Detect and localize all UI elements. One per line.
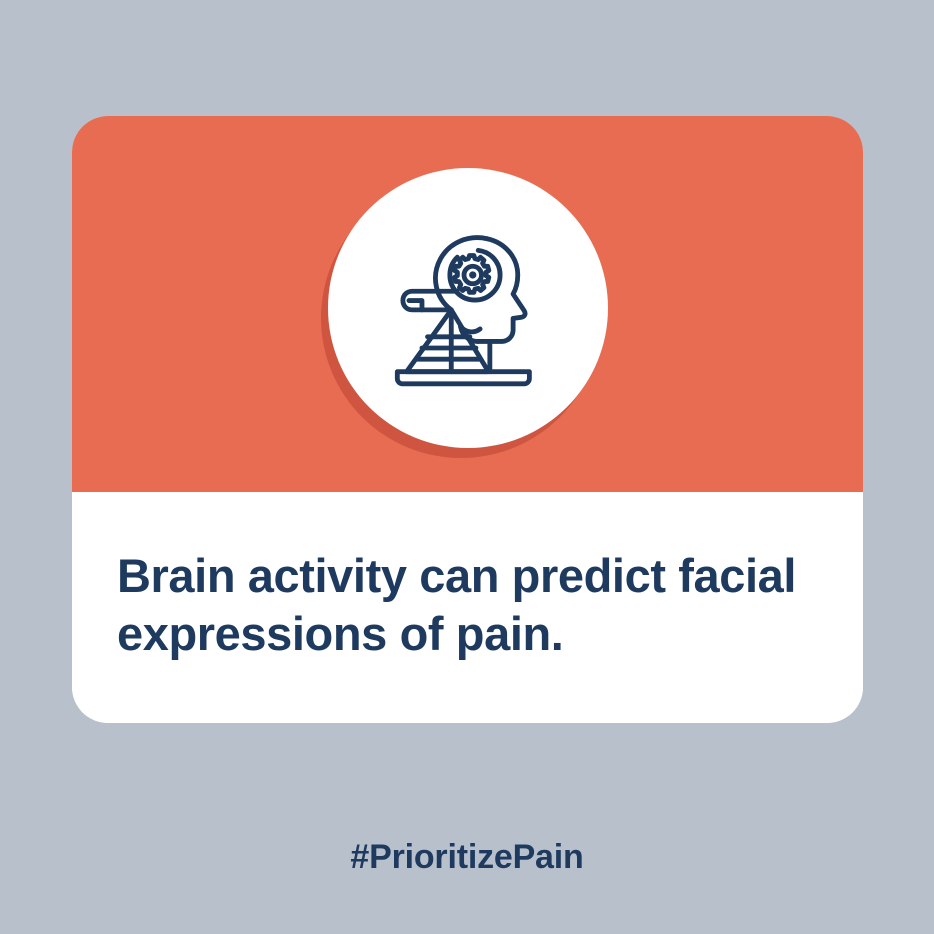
headline-line-2: expressions of pain. (117, 605, 827, 663)
card-body-panel: Brain activity can predict facial expres… (72, 492, 863, 723)
headline-line-1: Brain activity can predict facial (117, 547, 827, 605)
medallion-container (72, 116, 863, 492)
card-accent-panel (72, 116, 863, 492)
head-profile-gear-laptop-icon (375, 215, 561, 401)
headline: Brain activity can predict facial expres… (117, 547, 827, 663)
medallion (328, 168, 608, 448)
info-card: Brain activity can predict facial expres… (72, 116, 863, 723)
poster-canvas: Brain activity can predict facial expres… (0, 0, 934, 934)
gear-icon (455, 256, 489, 293)
campaign-hashtag: #PrioritizePain (0, 838, 934, 877)
